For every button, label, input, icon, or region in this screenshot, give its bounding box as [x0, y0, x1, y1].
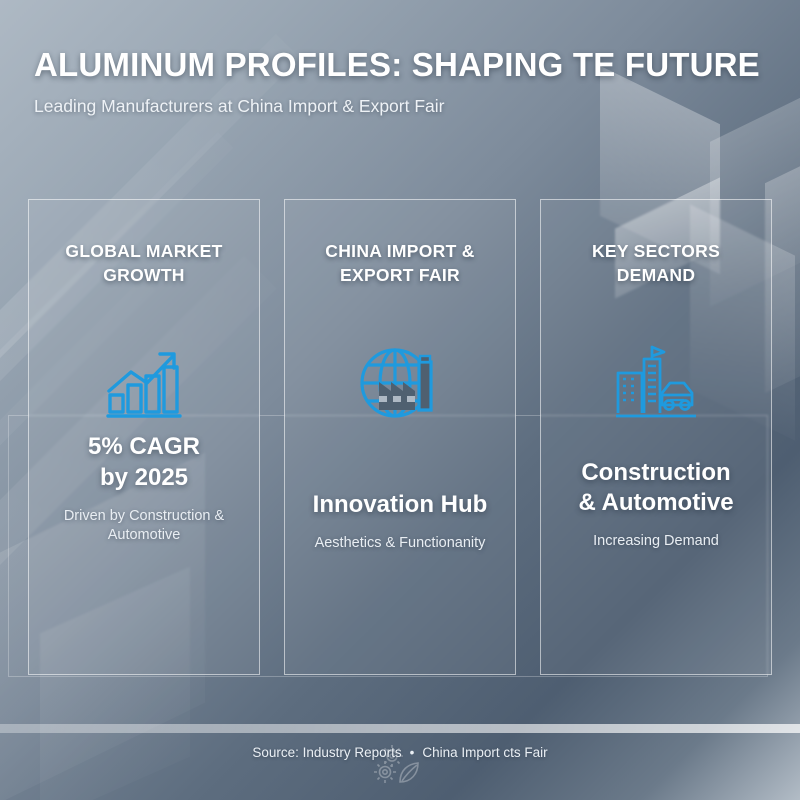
- card-headline: 5% CAGR by 2025: [88, 432, 200, 492]
- growth-chart-icon: [105, 340, 183, 426]
- infographic-canvas: ALUMINUM PROFILES: SHAPING TE FUTURE Lea…: [0, 0, 800, 800]
- card-title: GLOBAL MARKET GROWTH: [43, 240, 245, 288]
- card-headline: Innovation Hub: [313, 490, 488, 520]
- card-headline: Construction & Automotive: [578, 458, 733, 518]
- card-headline-line-2: by 2025: [88, 463, 200, 493]
- footer: Source: Industry Reports • China Import …: [0, 745, 800, 760]
- header: ALUMINUM PROFILES: SHAPING TE FUTURE Lea…: [34, 46, 774, 117]
- buildings-car-icon: [614, 340, 698, 426]
- footer-separator: •: [410, 745, 415, 760]
- card-global-market-growth[interactable]: GLOBAL MARKET GROWTH 5% CAGR by: [28, 199, 260, 675]
- page-title: ALUMINUM PROFILES: SHAPING TE FUTURE: [34, 46, 774, 84]
- card-subtext: Increasing Demand: [593, 532, 719, 552]
- card-subtext: Aesthetics & Functionanity: [315, 534, 486, 554]
- page-subtitle: Leading Manufacturers at China Import & …: [34, 96, 774, 117]
- card-key-sectors-demand[interactable]: KEY SECTORS DEMAND: [540, 199, 772, 675]
- card-headline-line-2: & Automotive: [578, 488, 733, 518]
- card-subtext: Driven by Construction & Automotive: [43, 507, 245, 546]
- card-headline-line-1: 5% CAGR: [88, 432, 200, 462]
- footer-attribution-text: China Import cts Fair: [422, 745, 547, 760]
- card-row: GLOBAL MARKET GROWTH 5% CAGR by: [28, 199, 772, 675]
- footer-divider-band: [0, 724, 800, 733]
- footer-source-text: Source: Industry Reports: [252, 745, 401, 760]
- card-headline-line-1: Construction: [578, 458, 733, 488]
- card-china-import-export-fair[interactable]: CHINA IMPORT & EXPORT FAIR: [284, 199, 516, 675]
- card-headline-line-1: Innovation Hub: [313, 490, 488, 520]
- globe-factory-icon: [357, 340, 443, 426]
- card-title: CHINA IMPORT & EXPORT FAIR: [299, 240, 501, 288]
- card-title: KEY SECTORS DEMAND: [555, 240, 757, 288]
